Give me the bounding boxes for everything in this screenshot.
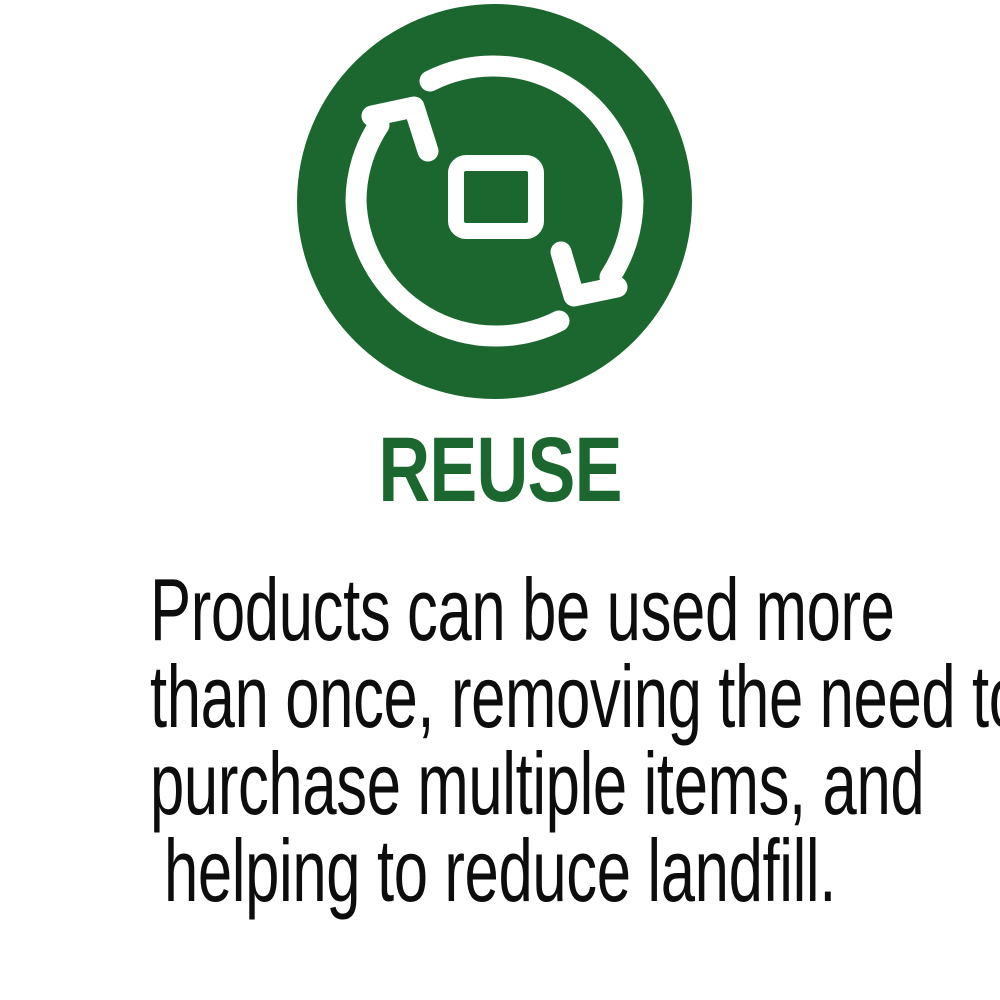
page-title: REUSE	[110, 424, 890, 516]
body-line-4: helping to reduce landfill.	[150, 827, 850, 914]
body-line-3: purchase multiple items, and	[150, 740, 850, 827]
body-line-1: Products can be used more	[150, 566, 850, 653]
body-line-2: than once, removing the need to	[150, 653, 850, 740]
body-copy: Products can be used more than once, rem…	[0, 566, 1000, 914]
reuse-icon-badge	[297, 4, 692, 399]
reuse-cycle-icon	[297, 4, 692, 399]
center-square-icon	[456, 163, 536, 231]
reuse-info-card: REUSE Products can be used more than onc…	[0, 0, 1000, 1000]
